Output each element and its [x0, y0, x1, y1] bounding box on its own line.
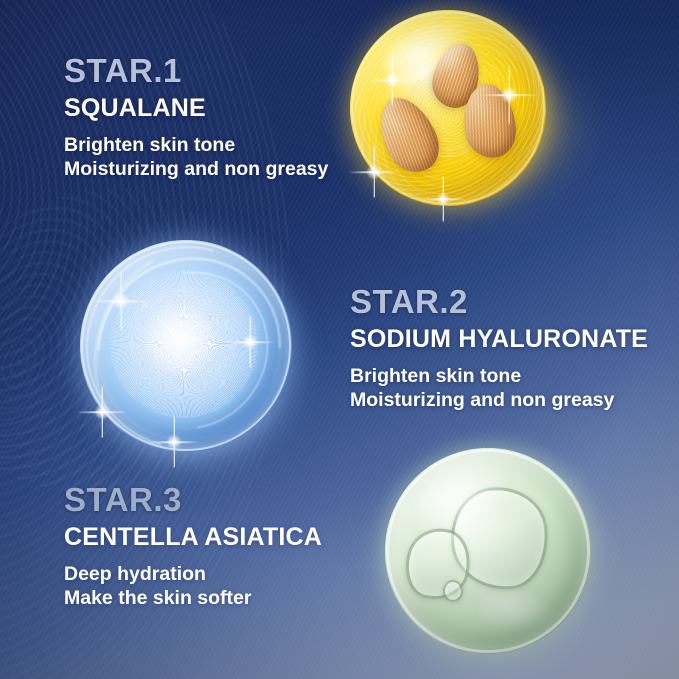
centella-asiatica-orb-illustration: [368, 430, 614, 676]
ingredient-benefit: Brighten skin tone: [64, 134, 328, 158]
golden-oil-droplet-icon: [350, 10, 546, 206]
ingredient-block-sodium-hyaluronate: STAR.2 SODIUM HYALURONATE Brighten skin …: [350, 285, 648, 413]
orb-rim: [81, 241, 291, 451]
ingredient-block-squalane: STAR.1 SQUALANE Brighten skin tone Moist…: [64, 54, 328, 182]
ingredient-benefit: Moisturizing and non greasy: [64, 158, 328, 182]
green-gel-sphere-icon: [385, 448, 591, 654]
star-label: STAR.1: [64, 54, 328, 87]
ingredient-block-centella-asiatica: STAR.3 CENTELLA ASIATICA Deep hydration …: [64, 483, 322, 611]
star-label: STAR.2: [350, 285, 648, 318]
blue-water-burst-icon: [80, 240, 292, 452]
ingredient-name: CENTELLA ASIATICA: [64, 525, 322, 550]
star-label: STAR.3: [64, 483, 322, 516]
sodium-hyaluronate-orb-illustration: [60, 222, 320, 482]
squalane-orb-illustration: [330, 0, 570, 232]
ingredient-name: SQUALANE: [64, 96, 328, 121]
ingredient-benefit: Deep hydration: [64, 563, 322, 587]
ingredient-benefit: Brighten skin tone: [350, 365, 648, 389]
ingredient-benefit: Moisturizing and non greasy: [350, 389, 648, 413]
orb-rim: [386, 449, 590, 653]
ingredient-benefit: Make the skin softer: [64, 587, 322, 611]
ingredient-infographic: STAR.1 SQUALANE Brighten skin tone Moist…: [0, 0, 679, 679]
orb-rim: [351, 11, 545, 205]
ingredient-name: SODIUM HYALURONATE: [350, 327, 648, 352]
